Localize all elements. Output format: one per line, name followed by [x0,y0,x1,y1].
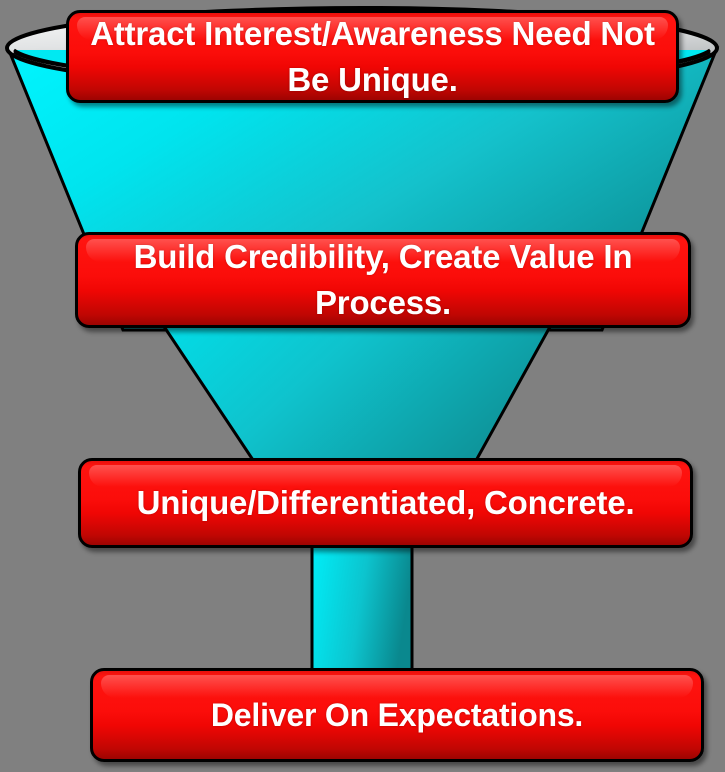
funnel-diagram: Attract Interest/Awareness Need Not Be U… [0,0,725,772]
stage-box-deliver[interactable]: Deliver On Expectations. [90,668,704,762]
funnel-neck [312,545,412,675]
funnel-graphic [0,0,725,772]
funnel-mid-cone [163,325,551,466]
stage-1-label: Attract Interest/Awareness Need Not Be U… [85,11,660,102]
stage-4-label: Deliver On Expectations. [109,693,685,737]
stage-3-label: Unique/Differentiated, Concrete. [97,480,674,526]
stage-box-credibility[interactable]: Build Credibility, Create Value In Proce… [75,232,691,328]
stage-box-attract[interactable]: Attract Interest/Awareness Need Not Be U… [66,10,679,103]
stage-box-differentiated[interactable]: Unique/Differentiated, Concrete. [78,458,693,548]
stage-2-label: Build Credibility, Create Value In Proce… [94,234,672,325]
